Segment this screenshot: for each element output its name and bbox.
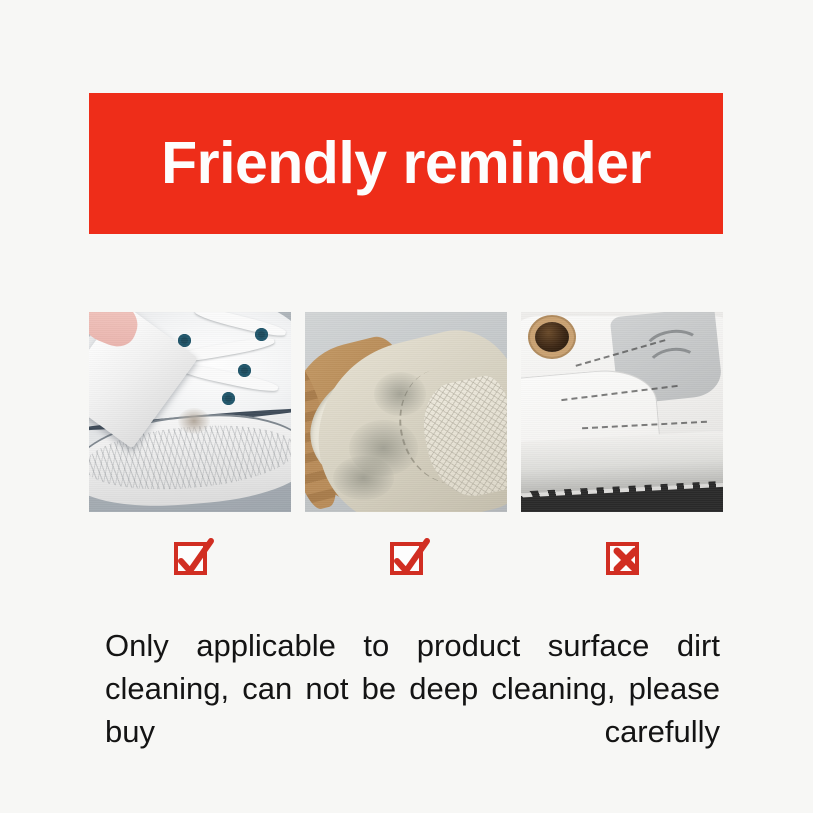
- photo-2-content: [305, 312, 507, 512]
- photo-2-dirt-stain: [333, 456, 394, 500]
- reminder-page: Friendly reminder: [0, 0, 813, 813]
- photo-3-eyelet: [535, 322, 569, 352]
- photo-3-content: [521, 312, 723, 512]
- product-photo-1: [89, 312, 291, 512]
- check-icon: [173, 539, 215, 581]
- banner-title: Friendly reminder: [161, 134, 651, 193]
- checkbox-checked-1: [174, 542, 207, 575]
- cross-icon: [605, 539, 647, 581]
- check-icon: [389, 539, 431, 581]
- photo-2-dirt-stain: [374, 372, 427, 416]
- photo-1-dirt-spot: [178, 408, 210, 434]
- friendly-reminder-banner: Friendly reminder: [89, 93, 723, 234]
- photo-1-content: [89, 312, 291, 512]
- checkbox-crossed-3: [606, 542, 639, 575]
- product-photo-gallery: [89, 312, 723, 512]
- suitability-marks-row: [89, 535, 723, 581]
- mark-cell-2: [305, 535, 507, 581]
- photo-1-eyelet: [255, 328, 268, 341]
- checkbox-checked-2: [390, 542, 423, 575]
- mark-cell-1: [89, 535, 291, 581]
- product-photo-3: [521, 312, 723, 512]
- mark-cell-3: [521, 535, 723, 581]
- reminder-caption: Only applicable to product surface dirt …: [105, 624, 720, 796]
- photo-3-outsole: [521, 486, 723, 512]
- product-photo-2: [305, 312, 507, 512]
